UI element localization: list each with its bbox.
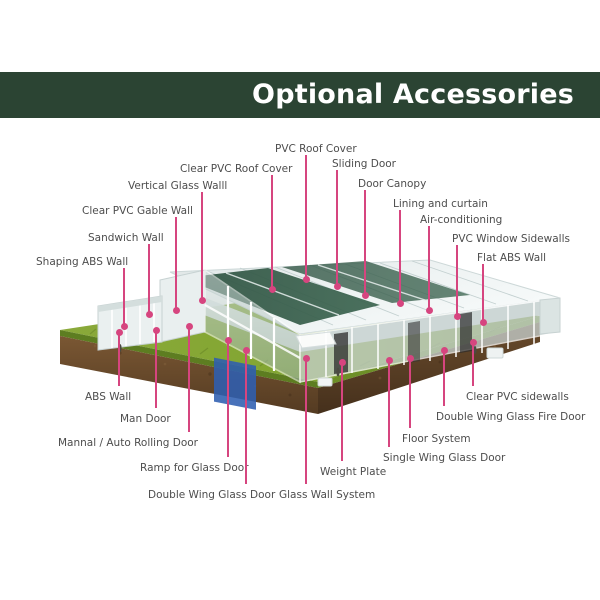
callout-label: Sandwich Wall	[88, 232, 164, 244]
callout-leader-line	[271, 175, 273, 289]
callout-leader-line	[399, 210, 401, 303]
callout-leader-line	[336, 170, 338, 286]
callout-endpoint-dot	[334, 283, 341, 290]
callout-label: PVC Window Sidewalls	[452, 233, 570, 245]
callout-leader-line	[409, 358, 411, 428]
callout-label: Mannal / Auto Rolling Door	[58, 437, 198, 449]
callout-endpoint-dot	[397, 300, 404, 307]
callout-label: Double Wing Glass Door	[148, 489, 275, 501]
callout-leader-line	[227, 340, 229, 457]
callout-label: ABS Wall	[85, 391, 131, 403]
callout-label: Floor System	[402, 433, 471, 445]
callout-endpoint-dot	[407, 355, 414, 362]
callout-label: Double Wing Glass Fire Door	[436, 411, 585, 423]
callout-label: Air-conditioning	[420, 214, 502, 226]
callout-leader-line	[305, 358, 307, 484]
callout-endpoint-dot	[303, 276, 310, 283]
auto-rolling-door	[214, 358, 256, 410]
callout-label: Door Canopy	[358, 178, 426, 190]
callout-endpoint-dot	[303, 355, 310, 362]
callout-endpoint-dot	[362, 292, 369, 299]
callout-label: Flat ABS Wall	[477, 252, 546, 264]
callout-endpoint-dot	[441, 347, 448, 354]
callout-leader-line	[472, 342, 474, 386]
callout-endpoint-dot	[199, 297, 206, 304]
callout-endpoint-dot	[426, 307, 433, 314]
callout-label: PVC Roof Cover	[275, 143, 357, 155]
callout-leader-line	[175, 217, 177, 310]
callout-label: Vertical Glass Walll	[128, 180, 227, 192]
callout-label: Man Door	[120, 413, 171, 425]
callout-label: Clear PVC Roof Cover	[180, 163, 292, 175]
callout-endpoint-dot	[480, 319, 487, 326]
callout-leader-line	[341, 362, 343, 461]
callout-leader-line	[201, 192, 203, 300]
callout-label: Weight Plate	[320, 466, 386, 478]
callout-label: Clear PVC Gable Wall	[82, 205, 193, 217]
callout-endpoint-dot	[386, 357, 393, 364]
callout-endpoint-dot	[116, 329, 123, 336]
callout-leader-line	[123, 268, 125, 326]
callout-leader-line	[148, 244, 150, 314]
diagram-page: Optional Accessories	[0, 0, 600, 600]
callout-endpoint-dot	[186, 323, 193, 330]
weight-plate	[318, 378, 332, 386]
callout-label: Ramp for Glass Door	[140, 462, 249, 474]
flat-abs-wall	[540, 298, 560, 334]
callout-endpoint-dot	[243, 347, 250, 354]
callout-leader-line	[118, 332, 120, 386]
callout-leader-line	[443, 350, 445, 406]
callout-endpoint-dot	[470, 339, 477, 346]
callout-label: Shaping ABS Wall	[36, 256, 128, 268]
callout-leader-line	[364, 190, 366, 295]
callout-label: Lining and curtain	[393, 198, 488, 210]
callout-label: Clear PVC sidewalls	[466, 391, 569, 403]
callout-endpoint-dot	[153, 327, 160, 334]
callout-endpoint-dot	[339, 359, 346, 366]
callout-label: Sliding Door	[332, 158, 396, 170]
callout-leader-line	[482, 264, 484, 322]
clear-pvc-gable-wall	[160, 270, 205, 342]
callout-leader-line	[245, 350, 247, 484]
page-title: Optional Accessories	[252, 79, 574, 110]
callout-endpoint-dot	[173, 307, 180, 314]
callout-leader-line	[188, 326, 190, 432]
air-conditioning-unit	[487, 348, 503, 358]
callout-endpoint-dot	[146, 311, 153, 318]
callout-leader-line	[388, 360, 390, 447]
callout-leader-line	[305, 155, 307, 279]
callout-leader-line	[456, 245, 458, 316]
callout-endpoint-dot	[225, 337, 232, 344]
callout-leader-line	[155, 330, 157, 408]
callout-endpoint-dot	[269, 286, 276, 293]
callout-leader-line	[428, 226, 430, 310]
callout-label: Single Wing Glass Door	[383, 452, 505, 464]
callout-label: Glass Wall System	[279, 489, 375, 501]
callout-endpoint-dot	[454, 313, 461, 320]
